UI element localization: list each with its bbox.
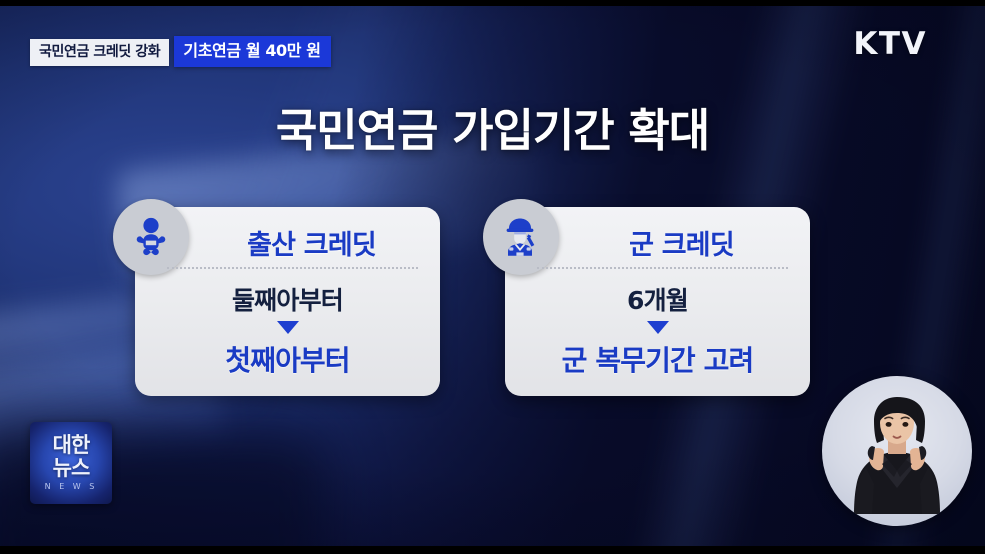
station-watermark: 대한 뉴스 N E W S [30, 422, 112, 504]
card-value-before: 둘째아부터 [232, 281, 343, 317]
caption-top-line: 국민연금 크레딧 강화 [30, 39, 169, 66]
caption-banner: 국민연금 크레딧 강화 기초연금 월 40만 원 [30, 36, 331, 67]
card-value-after: 군 복무기간 고려 [562, 339, 754, 379]
card-value-after: 첫째아부터 [225, 339, 349, 379]
caption-bottom-line: 기초연금 월 40만 원 [174, 36, 330, 67]
watermark-line-1: 대한 [53, 435, 90, 456]
card-childbirth-credit: 출산 크레딧 둘째아부터 첫째아부터 [135, 207, 440, 396]
card-value-before: 6개월 [627, 281, 688, 317]
letterbox-bottom [0, 546, 985, 554]
letterbox-top [0, 0, 985, 6]
card-divider [167, 267, 418, 269]
card-heading: 출산 크레딧 [197, 221, 426, 263]
card-body: 둘째아부터 첫째아부터 [145, 273, 430, 388]
broadcast-screen: 국민연금 크레딧 강화 기초연금 월 40만 원 KTV 국민연금 가입기간 확… [0, 0, 985, 554]
watermark-line-2: 뉴스 [53, 458, 90, 479]
watermark-line-3: N E W S [45, 483, 98, 491]
credit-cards-group: 출산 크레딧 둘째아부터 첫째아부터 [0, 207, 985, 402]
page-title: 국민연금 가입기간 확대 [0, 94, 985, 159]
baby-icon [113, 199, 189, 275]
arrow-down-icon [647, 321, 669, 334]
card-military-credit: 군 크레딧 6개월 군 복무기간 고려 [505, 207, 810, 396]
card-heading: 군 크레딧 [567, 221, 796, 263]
card-body: 6개월 군 복무기간 고려 [515, 273, 800, 388]
channel-logo: KTV [853, 26, 927, 62]
soldier-icon [483, 199, 559, 275]
sign-language-interpreter [822, 376, 972, 526]
card-divider [537, 267, 788, 269]
arrow-down-icon [277, 321, 299, 334]
